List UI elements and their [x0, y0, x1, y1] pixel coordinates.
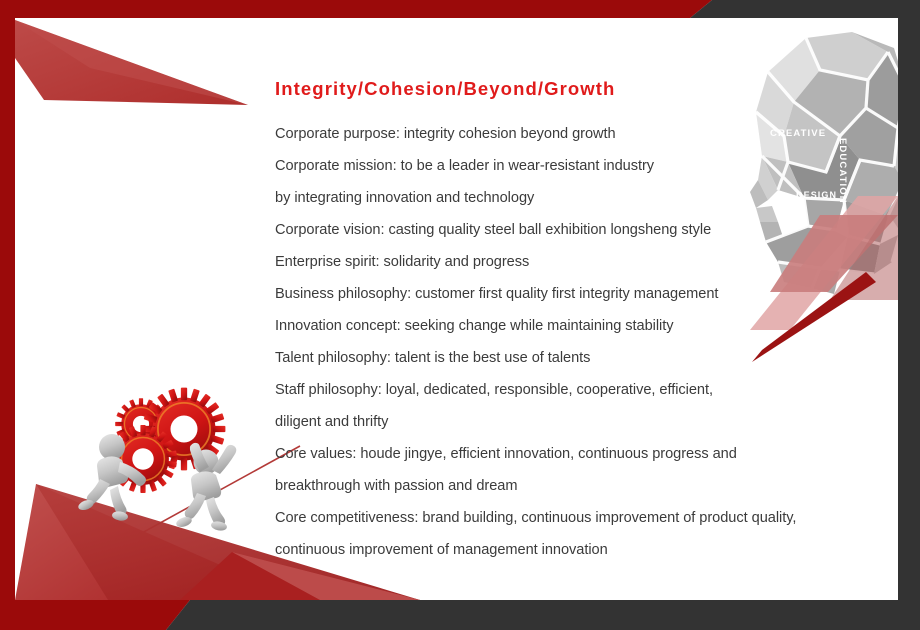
body-line-2: Corporate mission: to be a leader in wea…	[275, 150, 865, 182]
body-line-12: breakthrough with passion and dream	[275, 470, 865, 502]
page-title: Integrity/Cohesion/Beyond/Growth	[275, 78, 865, 100]
text-content-block: Integrity/Cohesion/Beyond/Growth Corpora…	[275, 78, 865, 566]
top-left-red-shape	[15, 20, 248, 105]
body-line-1: Corporate purpose: integrity cohesion be…	[275, 118, 865, 150]
body-line-6: Business philosophy: customer first qual…	[275, 278, 865, 310]
body-line-13: Core competitiveness: brand building, co…	[275, 502, 865, 534]
body-line-4: Corporate vision: casting quality steel …	[275, 214, 865, 246]
body-line-9: Staff philosophy: loyal, dedicated, resp…	[275, 374, 865, 406]
slide-canvas: CREATIVE EDUCATION DESIGN	[0, 0, 920, 630]
body-line-10: diligent and thrifty	[275, 406, 865, 438]
body-line-5: Enterprise spirit: solidarity and progre…	[275, 246, 865, 278]
body-line-11: Core values: houde jingye, efficient inn…	[275, 438, 865, 470]
body-line-8: Talent philosophy: talent is the best us…	[275, 342, 865, 374]
body-line-14: continuous improvement of management inn…	[275, 534, 865, 566]
body-line-3: by integrating innovation and technology	[275, 182, 865, 214]
body-line-7: Innovation concept: seeking change while…	[275, 310, 865, 342]
